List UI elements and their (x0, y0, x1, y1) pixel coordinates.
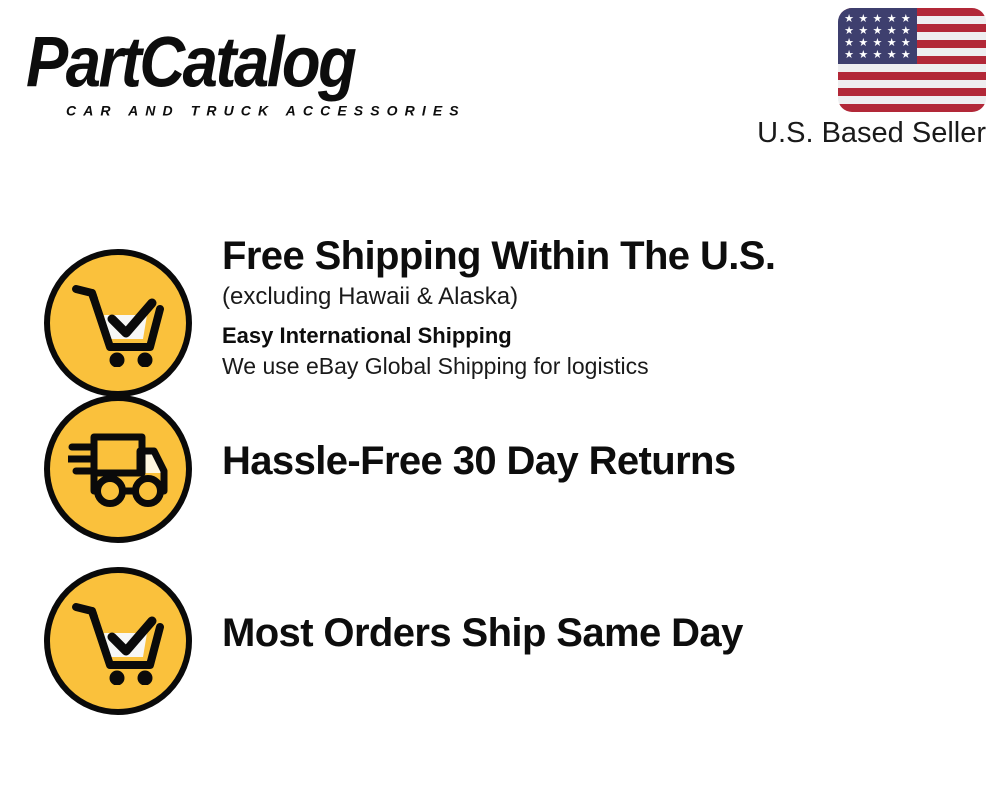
feature-title: Hassle-Free 30 Day Returns (222, 438, 992, 484)
feature-text: Free Shipping Within The U.S. (excluding… (222, 233, 992, 382)
delivery-truck-icon (44, 395, 192, 543)
feature-subtitle: (excluding Hawaii & Alaska) (222, 281, 992, 313)
brand-tagline: CAR AND TRUCK ACCESSORIES (66, 102, 466, 118)
brand-logo[interactable]: PartCatalog CAR AND TRUCK ACCESSORIES (22, 26, 492, 118)
page-header: PartCatalog CAR AND TRUCK ACCESSORIES (0, 0, 1000, 175)
us-based-seller-badge: ★★★★★ ★★★★★ ★★★★★ ★★★★★ U.S. Based Selle… (716, 8, 986, 150)
feature-text: Hassle-Free 30 Day Returns (222, 438, 992, 484)
brand-wordmark: PartCatalog (22, 26, 487, 98)
feature-row: Free Shipping Within The U.S. (excluding… (0, 225, 1000, 405)
flag-canton: ★★★★★ ★★★★★ ★★★★★ ★★★★★ (838, 8, 917, 64)
us-flag-icon: ★★★★★ ★★★★★ ★★★★★ ★★★★★ (838, 8, 986, 112)
shopping-cart-check-icon (44, 567, 192, 715)
shopping-cart-check-icon (44, 249, 192, 397)
feature-title: Most Orders Ship Same Day (222, 610, 992, 656)
feature-sub-detail: We use eBay Global Shipping for logistic… (222, 351, 992, 382)
feature-title: Free Shipping Within The U.S. (222, 233, 992, 279)
feature-row: Most Orders Ship Same Day (0, 567, 1000, 717)
feature-sub-heading: Easy International Shipping (222, 321, 992, 351)
feature-text: Most Orders Ship Same Day (222, 610, 992, 656)
us-based-seller-label: U.S. Based Seller (716, 116, 986, 150)
feature-row: Hassle-Free 30 Day Returns (0, 395, 1000, 545)
